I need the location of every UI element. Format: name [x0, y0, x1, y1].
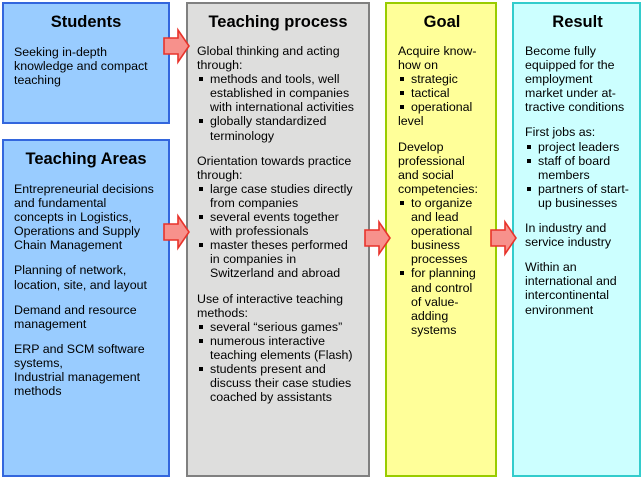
- section-lead: First jobs as:: [525, 125, 630, 139]
- list-item: operational: [398, 100, 486, 114]
- section-lead: In industry and service industry: [525, 221, 630, 249]
- section-lead: Global thinking and acting through:: [197, 44, 359, 72]
- section-lead: Within an international and intercontine…: [525, 260, 630, 316]
- section-lead: Become fully equipped for the employment…: [525, 44, 630, 114]
- students-title: Students: [14, 13, 158, 31]
- list-item: large case studies directly from compani…: [197, 182, 359, 210]
- spacer: [14, 331, 158, 342]
- students-box: Students Seeking in-depth knowledge and …: [2, 2, 170, 124]
- spacer: [197, 281, 359, 292]
- spacer: [197, 143, 359, 154]
- arrow-right-icon: [160, 212, 192, 252]
- arrow-right-icon: [160, 26, 192, 66]
- spacer: [14, 292, 158, 303]
- list-item: students present and discuss their case …: [197, 362, 359, 404]
- spacer: [525, 210, 630, 221]
- bullet-list: large case studies directly from compani…: [197, 182, 359, 281]
- list-item: methods and tools, well established in c…: [197, 72, 359, 114]
- list-item: numerous interactive teaching elements (…: [197, 334, 359, 362]
- teaching-area-item: Entrepreneurial decisions and fundamenta…: [14, 182, 158, 252]
- teaching-area-item: ERP and SCM software systems, Industrial…: [14, 342, 158, 398]
- bullet-list: project leaders staff of board members p…: [525, 140, 630, 210]
- spacer: [398, 129, 486, 140]
- section-lead: Orientation towards practice through:: [197, 154, 359, 182]
- section-lead: Use of interactive teaching methods:: [197, 292, 359, 320]
- arrow-right-icon: [361, 218, 393, 258]
- spacer: [14, 252, 158, 263]
- list-item: partners of start-up businesses: [525, 182, 630, 210]
- list-item: staff of board members: [525, 154, 630, 182]
- list-item: several “serious games”: [197, 320, 359, 334]
- section-lead: Develop professional and social competen…: [398, 140, 486, 196]
- teaching-process-title: Teaching process: [197, 13, 359, 31]
- teaching-areas-title: Teaching Areas: [14, 150, 158, 168]
- arrow-right-icon: [487, 218, 519, 258]
- bullet-list: several “serious games” numerous interac…: [197, 320, 359, 405]
- result-title: Result: [525, 13, 630, 31]
- teaching-process-box: Teaching process Global thinking and act…: [186, 2, 370, 477]
- result-body: Become fully equipped for the employment…: [525, 44, 630, 317]
- students-body: Seeking in-depth knowledge and compact t…: [14, 45, 158, 87]
- goal-box: Goal Acquire know-how on strategic tacti…: [385, 2, 497, 477]
- teaching-areas-body: Entrepreneurial decisions and fundamenta…: [14, 182, 158, 398]
- teaching-process-body: Global thinking and acting through: meth…: [197, 44, 359, 404]
- goal-title: Goal: [398, 13, 486, 31]
- spacer: [525, 249, 630, 260]
- teaching-area-item: Planning of network, location, site, and…: [14, 263, 158, 291]
- section-lead: Acquire know-how on: [398, 44, 486, 72]
- students-description: Seeking in-depth knowledge and compact t…: [14, 45, 158, 87]
- bullet-list: strategic tactical operational: [398, 72, 486, 114]
- section-tail: level: [398, 114, 486, 128]
- teaching-area-item: Demand and resource management: [14, 303, 158, 331]
- list-item: several events together with professiona…: [197, 210, 359, 238]
- bullet-list: methods and tools, well established in c…: [197, 72, 359, 142]
- result-box: Result Become fully equipped for the emp…: [512, 2, 641, 477]
- list-item: globally standardized terminology: [197, 114, 359, 142]
- list-item: project leaders: [525, 140, 630, 154]
- teaching-areas-box: Teaching Areas Entrepreneurial decisions…: [2, 139, 170, 477]
- goal-body: Acquire know-how on strategic tactical o…: [398, 44, 486, 337]
- list-item: strategic: [398, 72, 486, 86]
- list-item: tactical: [398, 86, 486, 100]
- list-item: master theses performed in companies in …: [197, 238, 359, 280]
- bullet-list: to organize and lead operational busines…: [398, 196, 486, 337]
- process-flow-diagram: Students Seeking in-depth knowledge and …: [0, 0, 643, 482]
- spacer: [525, 114, 630, 125]
- list-item: for planning and control of value-adding…: [398, 266, 486, 336]
- list-item: to organize and lead operational busines…: [398, 196, 486, 266]
